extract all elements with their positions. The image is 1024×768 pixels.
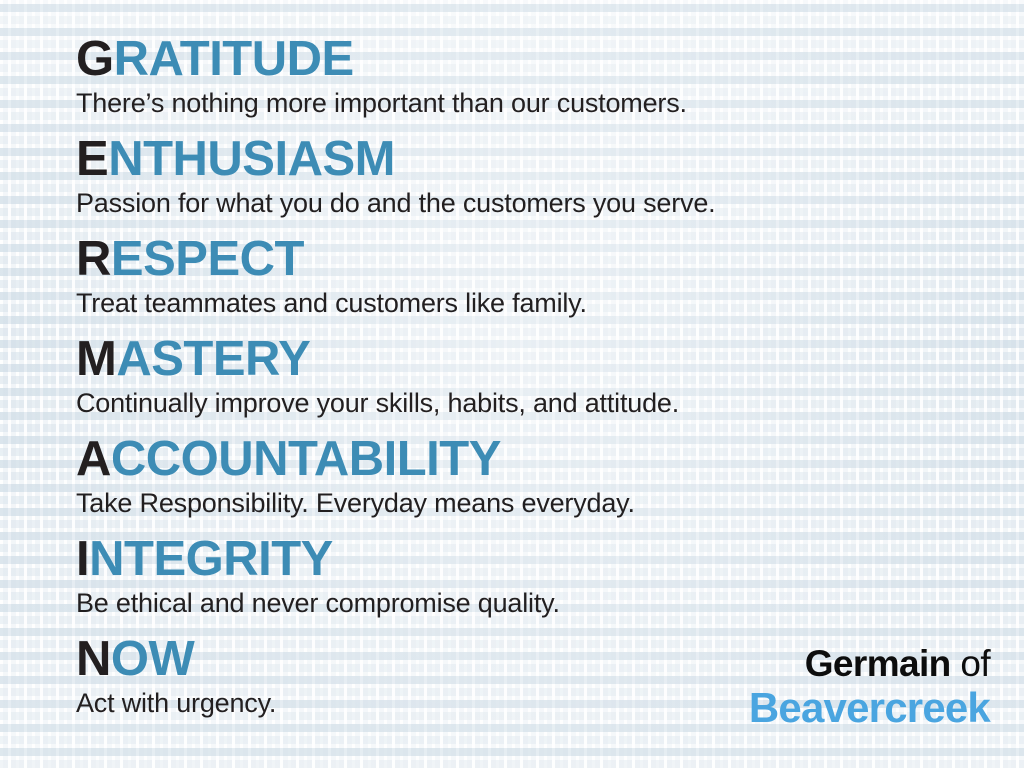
values-poster: GRATITUDE There’s nothing more important…	[0, 0, 1024, 768]
value-heading-respect: RESPECT	[76, 234, 715, 284]
logo-brand-name: Germain	[805, 643, 951, 684]
logo-primary-line: Germain of	[749, 644, 990, 684]
value-description-now: Act with urgency.	[76, 686, 715, 720]
value-entry-mastery: MASTERY Continually improve your skills,…	[76, 334, 715, 421]
value-initial-letter: E	[76, 132, 108, 186]
value-entry-now: NOW Act with urgency.	[76, 634, 715, 720]
value-description-mastery: Continually improve your skills, habits,…	[76, 386, 715, 420]
value-entry-enthusiasm: ENTHUSIASM Passion for what you do and t…	[76, 134, 715, 221]
value-initial-letter: N	[76, 632, 111, 686]
value-description-accountability: Take Responsibility. Everyday means ever…	[76, 486, 715, 520]
value-description-gratitude: There’s nothing more important than our …	[76, 86, 715, 120]
logo-location-name: Beavercreek	[749, 686, 990, 730]
value-description-enthusiasm: Passion for what you do and the customer…	[76, 186, 715, 220]
value-heading-gratitude: GRATITUDE	[76, 34, 715, 84]
value-initial-letter: R	[76, 232, 111, 286]
value-entry-integrity: INTEGRITY Be ethical and never compromis…	[76, 534, 715, 621]
logo-connector-word: of	[951, 643, 990, 684]
value-heading-integrity: INTEGRITY	[76, 534, 715, 584]
core-values-list: GRATITUDE There’s nothing more important…	[76, 34, 715, 733]
value-heading-remainder: ASTERY	[116, 332, 310, 386]
value-heading-mastery: MASTERY	[76, 334, 715, 384]
value-heading-remainder: RATITUDE	[114, 32, 354, 86]
value-heading-remainder: NTHUSIASM	[108, 132, 395, 186]
value-heading-accountability: ACCOUNTABILITY	[76, 434, 715, 484]
value-description-respect: Treat teammates and customers like famil…	[76, 286, 715, 320]
value-heading-remainder: NTEGRITY	[89, 532, 333, 586]
value-entry-accountability: ACCOUNTABILITY Take Responsibility. Ever…	[76, 434, 715, 521]
value-heading-remainder: OW	[111, 632, 194, 686]
value-heading-remainder: CCOUNTABILITY	[111, 432, 501, 486]
dealership-logo: Germain of Beavercreek	[749, 644, 990, 730]
value-heading-remainder: ESPECT	[111, 232, 304, 286]
value-entry-gratitude: GRATITUDE There’s nothing more important…	[76, 34, 715, 121]
value-initial-letter: G	[76, 32, 114, 86]
value-initial-letter: M	[76, 332, 116, 386]
value-entry-respect: RESPECT Treat teammates and customers li…	[76, 234, 715, 321]
value-initial-letter: A	[76, 432, 111, 486]
value-heading-enthusiasm: ENTHUSIASM	[76, 134, 715, 184]
value-heading-now: NOW	[76, 634, 715, 684]
value-description-integrity: Be ethical and never compromise quality.	[76, 586, 715, 620]
value-initial-letter: I	[76, 532, 89, 586]
